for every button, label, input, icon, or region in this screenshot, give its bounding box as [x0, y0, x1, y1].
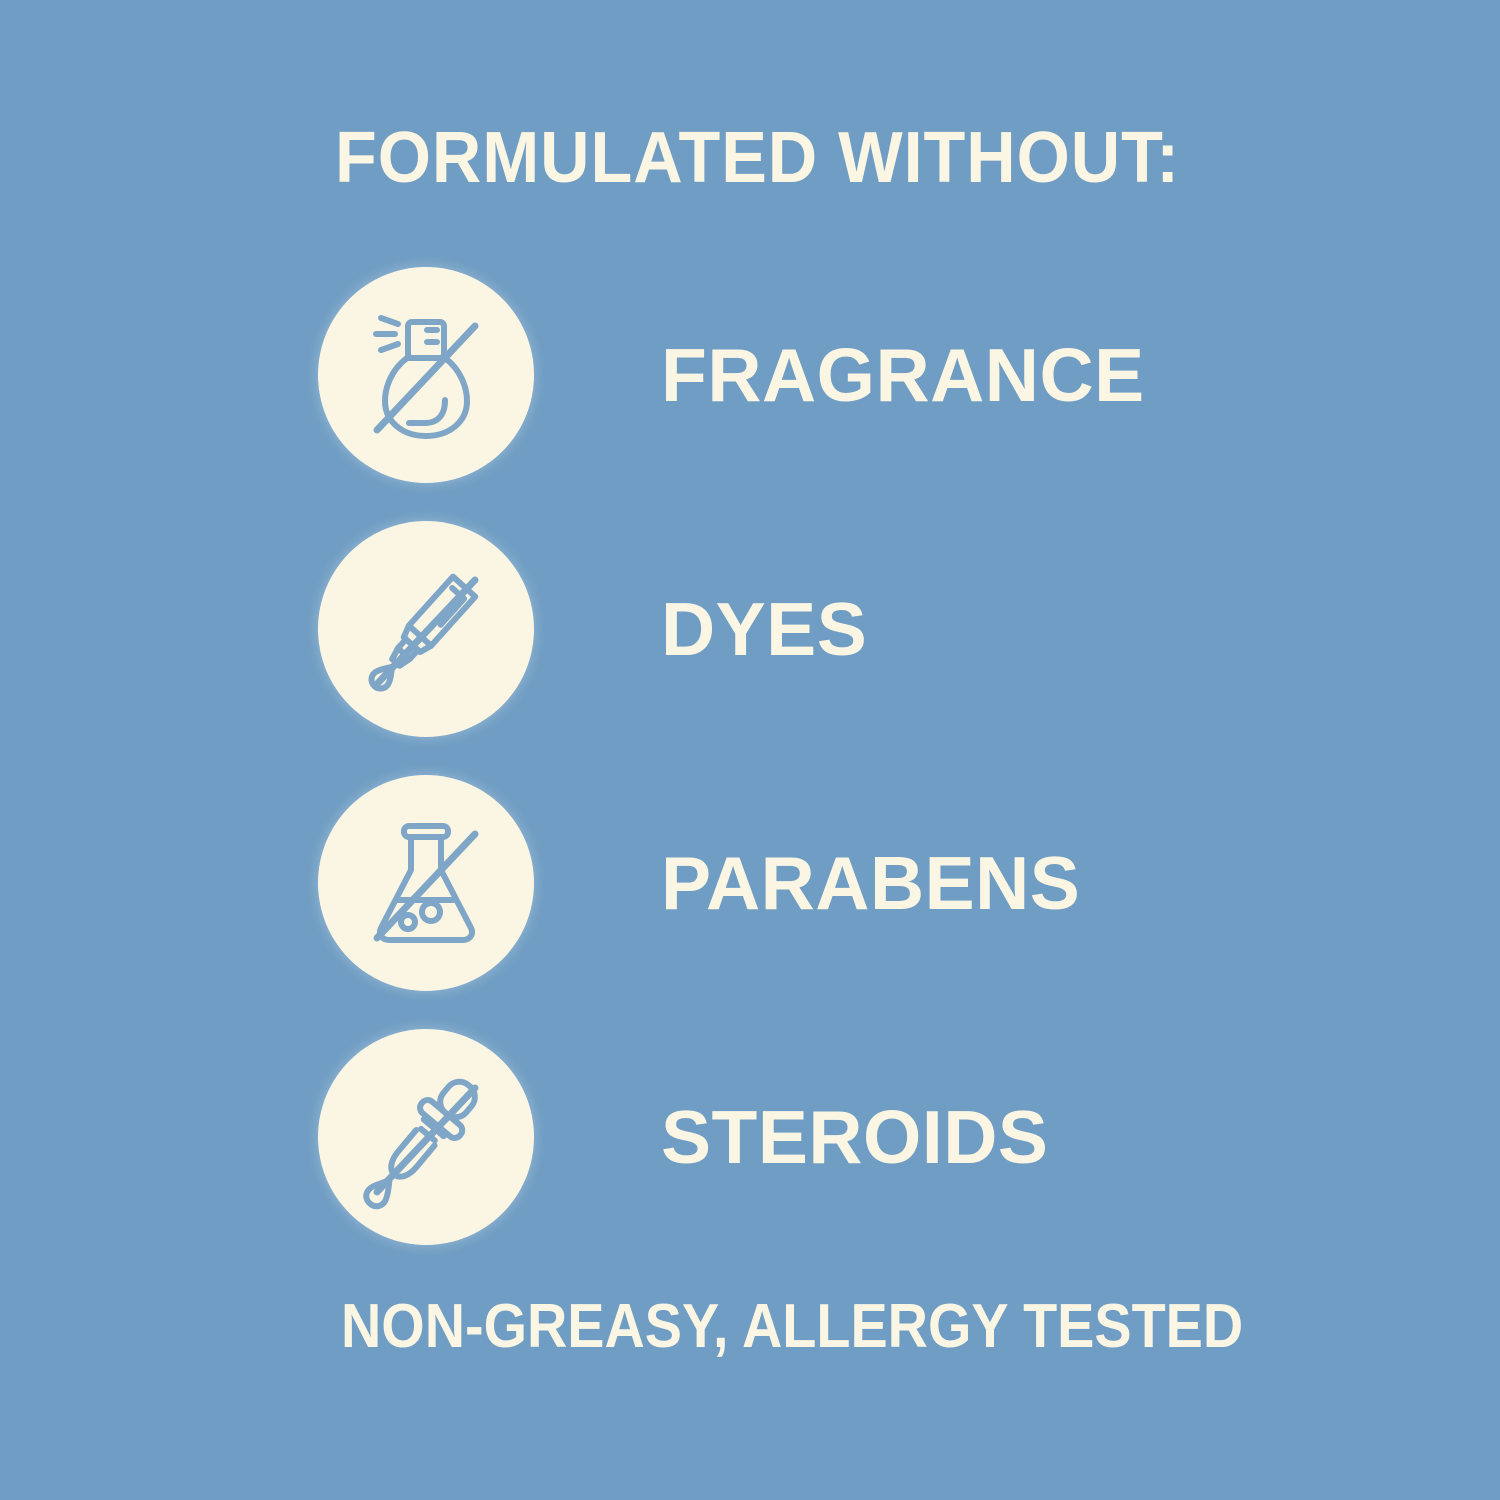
no-dropper-icon — [318, 1029, 534, 1245]
list-item-label: FRAGRANCE — [661, 338, 1145, 413]
list-item: DYES — [318, 521, 1318, 737]
list-item-label: DYES — [661, 592, 867, 667]
no-dye-tube-icon — [318, 521, 534, 737]
list-item-label: PARABENS — [661, 846, 1080, 921]
formulated-without-infographic: FORMULATED WITHOUT: FRAGRANCE — [0, 0, 1500, 1500]
page-title: FORMULATED WITHOUT: — [328, 122, 1188, 194]
list-item: PARABENS — [318, 775, 1318, 991]
list-item-label: STEROIDS — [661, 1100, 1048, 1175]
footer-tagline: NON-GREASY, ALLERGY TESTED — [341, 1296, 1169, 1358]
list-item: FRAGRANCE — [318, 267, 1318, 483]
list-item: STEROIDS — [318, 1029, 1318, 1245]
no-perfume-bottle-icon — [318, 267, 534, 483]
no-flask-icon — [318, 775, 534, 991]
